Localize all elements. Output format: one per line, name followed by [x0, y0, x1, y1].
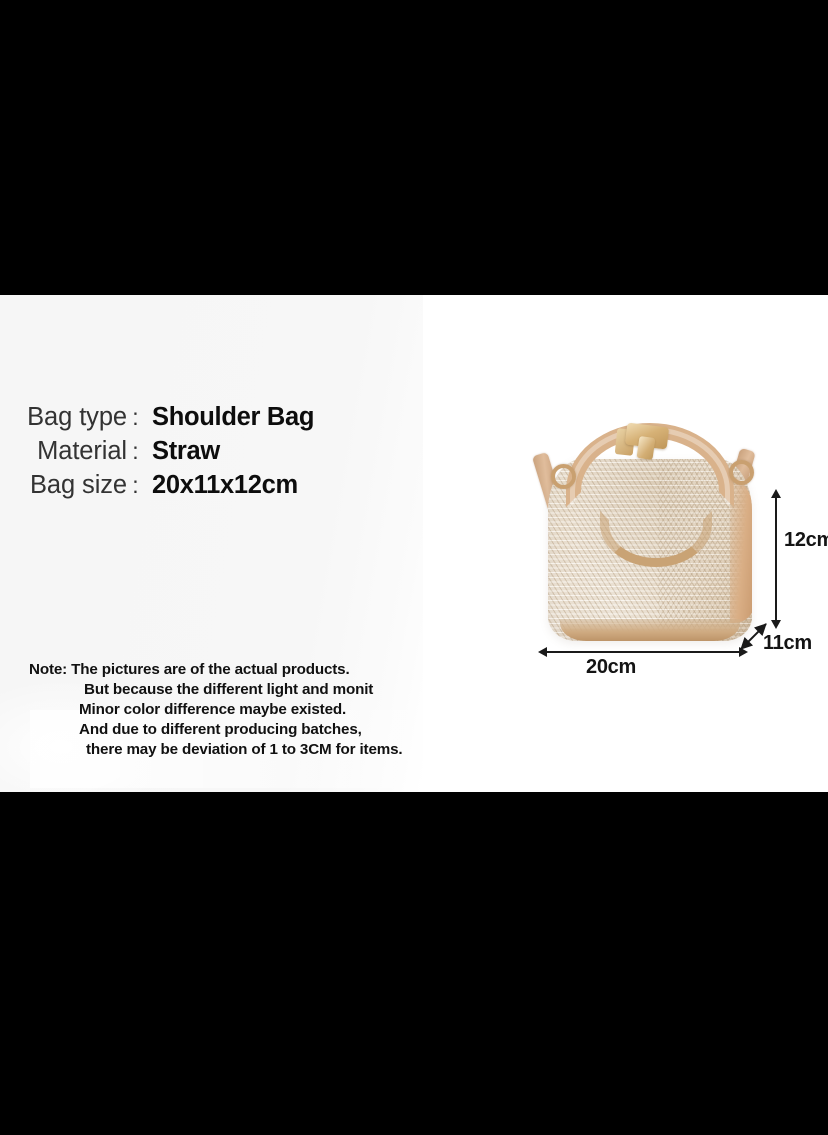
spec-row-material: Material : Straw [0, 437, 423, 471]
spec-value-material: Straw [144, 437, 220, 466]
spec-colon-material: : [127, 438, 144, 465]
straw-shoulder-bag-photo [530, 423, 770, 663]
spec-value-bag-type: Shoulder Bag [144, 403, 314, 432]
product-info-image: Bag type : Shoulder Bag Material : Straw… [0, 295, 828, 792]
note-line: And due to different producing batches, [0, 720, 423, 740]
bag-base-piping [560, 619, 740, 641]
dimension-label-depth: 11cm [763, 632, 812, 655]
note-line: there may be deviation of 1 to 3CM for i… [0, 740, 423, 760]
strap-ring-right [729, 460, 754, 485]
spec-colon-bag-type: : [127, 404, 144, 431]
letterbox-bottom [0, 792, 828, 1135]
dimension-arrow-height [775, 497, 777, 621]
disclaimer-note: Note: The pictures are of the actual pro… [0, 660, 423, 760]
spec-row-bag-type: Bag type : Shoulder Bag [0, 403, 423, 437]
dimension-label-width: 20cm [586, 656, 636, 679]
letterbox-top [0, 0, 828, 295]
spec-value-bag-size: 20x11x12cm [144, 471, 298, 500]
dimension-arrow-width [546, 651, 740, 653]
spec-label-bag-type: Bag type [0, 403, 127, 432]
handle-clasp-tongue [637, 436, 656, 460]
spec-label-bag-size: Bag size [0, 471, 127, 500]
spec-row-bag-size: Bag size : 20x11x12cm [0, 471, 423, 505]
spec-list: Bag type : Shoulder Bag Material : Straw… [0, 403, 423, 505]
dimension-label-height: 12cm [784, 529, 828, 552]
specs-panel: Bag type : Shoulder Bag Material : Straw… [0, 295, 423, 792]
spec-colon-bag-size: : [127, 472, 144, 499]
note-line: Minor color difference maybe existed. [0, 700, 423, 720]
note-line: But because the different light and moni… [0, 680, 423, 700]
note-line: Note: The pictures are of the actual pro… [0, 660, 423, 680]
strap-ring-left [551, 464, 576, 489]
spec-label-material: Material [0, 437, 127, 466]
